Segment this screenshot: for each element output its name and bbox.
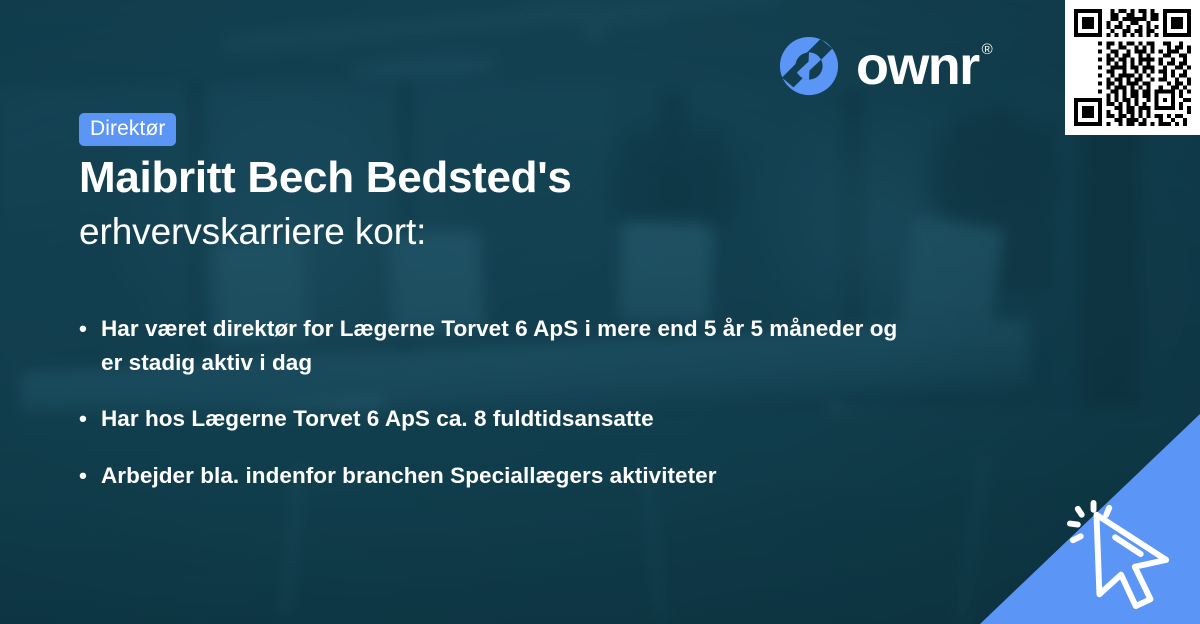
headline-line-2: erhvervskarriere kort: (79, 208, 979, 256)
headline-line-1: Maibritt Bech Bedsted's (79, 152, 979, 204)
list-item-label: Har været direktør for Lægerne Torvet 6 … (101, 312, 899, 380)
ownr-circle-swoosh-icon (778, 35, 840, 97)
bullet-dot-icon: • (79, 459, 101, 493)
qr-code-icon[interactable] (1065, 0, 1200, 135)
business-card: Direktør Maibritt Bech Bedsted's erhverv… (0, 0, 1200, 624)
list-item-label: Arbejder bla. indenfor branchen Speciall… (101, 459, 899, 493)
list-item: • Har været direktør for Lægerne Torvet … (79, 312, 899, 380)
ownr-wordmark-text: ownr (856, 39, 979, 93)
list-item: • Arbejder bla. indenfor branchen Specia… (79, 459, 899, 493)
career-summary-list: • Har været direktør for Lægerne Torvet … (79, 312, 899, 493)
ownr-logo[interactable]: ownr ® (778, 35, 993, 97)
list-item-label: Har hos Lægerne Torvet 6 ApS ca. 8 fuldt… (101, 402, 899, 436)
bullet-dot-icon: • (79, 402, 101, 436)
headline: Maibritt Bech Bedsted's erhvervskarriere… (79, 152, 979, 256)
registered-trademark-icon: ® (982, 42, 993, 57)
role-badge: Direktør (79, 113, 176, 146)
mouse-cursor-click-icon (1064, 498, 1182, 610)
bullet-dot-icon: • (79, 312, 101, 346)
ownr-wordmark: ownr ® (856, 39, 993, 93)
list-item: • Har hos Lægerne Torvet 6 ApS ca. 8 ful… (79, 402, 899, 436)
